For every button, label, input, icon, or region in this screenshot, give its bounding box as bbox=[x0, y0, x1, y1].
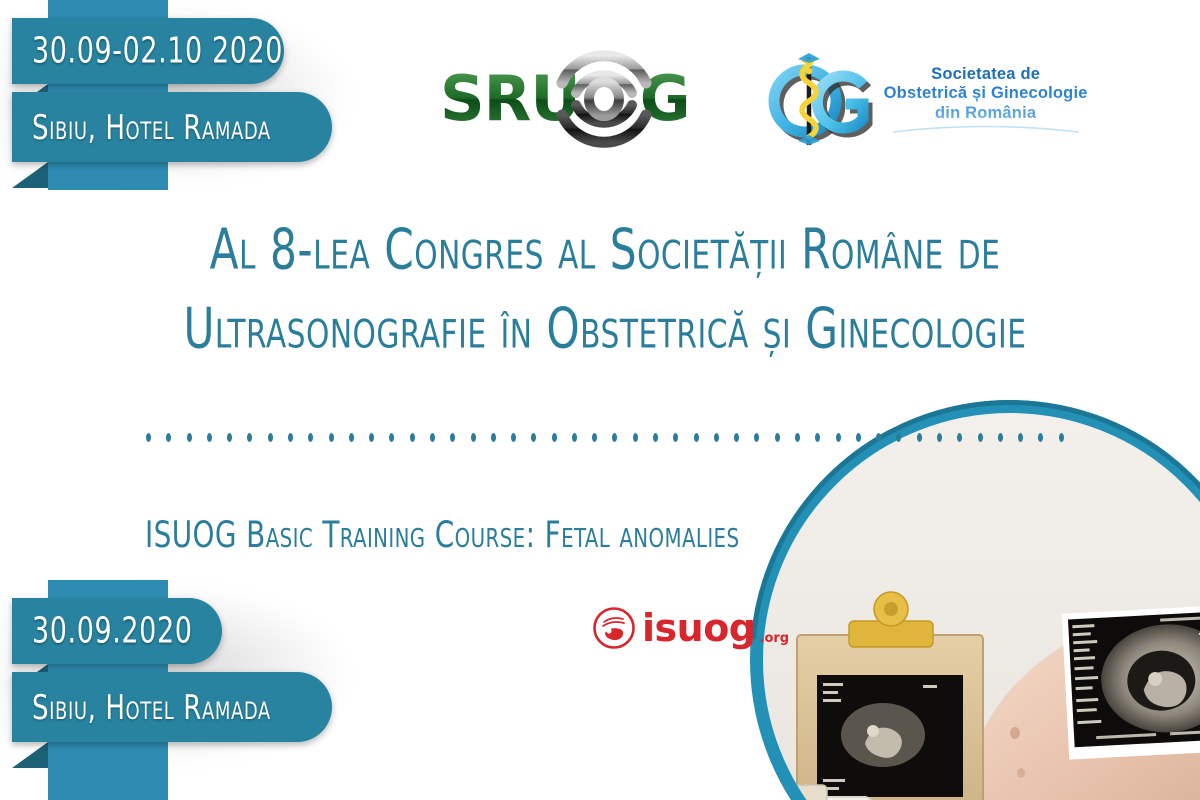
divider-dot bbox=[754, 433, 759, 442]
divider-dot bbox=[268, 433, 273, 442]
divider-dot bbox=[430, 433, 435, 442]
course-venue-text: Sibiu, Hotel Ramada bbox=[12, 687, 271, 727]
divider-dot bbox=[247, 433, 252, 442]
course-subtitle: ISUOG Basic Training Course: Fetal anoma… bbox=[145, 514, 739, 556]
divider-dot bbox=[795, 433, 800, 442]
divider-dot bbox=[673, 433, 678, 442]
divider-dot bbox=[978, 433, 983, 442]
divider-dot bbox=[876, 433, 881, 442]
course-date-ribbon: 30.09.2020 Sibiu, Hotel Ramada bbox=[0, 580, 360, 770]
event-venue-text: Sibiu, Hotel Ramada bbox=[12, 107, 271, 147]
divider-dot bbox=[917, 433, 922, 442]
sogr-monogram-icon bbox=[768, 47, 874, 151]
divider-dot bbox=[511, 433, 516, 442]
course-date-text: 30.09.2020 bbox=[12, 610, 192, 651]
sogr-text-line-1: Societatea de bbox=[884, 65, 1088, 84]
divider-dot bbox=[207, 433, 212, 442]
sogr-text-line-2: Obstetrică și Ginecologie bbox=[884, 84, 1088, 103]
divider-dot bbox=[937, 433, 942, 442]
divider-dot bbox=[734, 433, 739, 442]
divider-dot bbox=[146, 433, 151, 442]
divider-dot bbox=[836, 433, 841, 442]
divider-dot bbox=[166, 433, 171, 442]
course-venue-bar: Sibiu, Hotel Ramada bbox=[12, 672, 332, 742]
divider-dot bbox=[592, 433, 597, 442]
divider-dot bbox=[572, 433, 577, 442]
sruog-logo[interactable]: SRU G bbox=[440, 51, 690, 147]
event-date-bar: 30.09-02.10 2020 bbox=[12, 18, 284, 84]
divider-dot bbox=[450, 433, 455, 442]
divider-dot bbox=[612, 433, 617, 442]
isuog-domain-suffix: .org bbox=[760, 631, 790, 650]
course-date-bar: 30.09.2020 bbox=[12, 598, 222, 664]
page-title: Al 8-lea Congres al Societății Române de… bbox=[130, 212, 1080, 356]
logo-row: SRU G bbox=[440, 40, 1140, 158]
divider-dot bbox=[329, 433, 334, 442]
divider-dot bbox=[410, 433, 415, 442]
sogr-text-line-3: din România bbox=[884, 104, 1088, 123]
ultrasound-wave-icon bbox=[548, 43, 660, 155]
divider-dot bbox=[957, 433, 962, 442]
divider-dot bbox=[227, 433, 232, 442]
conference-banner: 30.09-02.10 2020 Sibiu, Hotel Ramada SRU… bbox=[0, 0, 1200, 800]
divider-dot bbox=[349, 433, 354, 442]
divider-dot bbox=[491, 433, 496, 442]
divider-dot bbox=[471, 433, 476, 442]
divider-dot bbox=[531, 433, 536, 442]
divider-dot bbox=[633, 433, 638, 442]
event-dates-ribbon: 30.09-02.10 2020 Sibiu, Hotel Ramada bbox=[0, 0, 360, 190]
isuog-wordmark: isuog bbox=[642, 609, 756, 647]
fetus-circle-icon bbox=[592, 606, 636, 650]
divider-dot bbox=[308, 433, 313, 442]
divider-dot bbox=[856, 433, 861, 442]
divider-dot bbox=[288, 433, 293, 442]
dotted-divider bbox=[146, 432, 1064, 442]
divider-dot bbox=[1059, 433, 1064, 442]
sogr-logo[interactable]: Societatea de Obstetrică și Ginecologie … bbox=[768, 47, 1088, 151]
divider-dot bbox=[389, 433, 394, 442]
divider-dot bbox=[552, 433, 557, 442]
page-title-line-2: Ultrasonografie în Obstetrică și Ginecol… bbox=[130, 291, 1080, 369]
divider-dot bbox=[998, 433, 1003, 442]
divider-dot bbox=[1018, 433, 1023, 442]
isuog-logo[interactable]: isuog .org bbox=[592, 606, 789, 650]
page-title-line-1: Al 8-lea Congres al Societății Române de bbox=[130, 212, 1080, 290]
event-date-text: 30.09-02.10 2020 bbox=[12, 30, 283, 71]
divider-dot bbox=[1038, 433, 1043, 442]
divider-dot bbox=[653, 433, 658, 442]
divider-dot bbox=[694, 433, 699, 442]
pregnancy-ultrasound-photo bbox=[750, 400, 1200, 800]
event-venue-bar: Sibiu, Hotel Ramada bbox=[12, 92, 332, 162]
divider-dot bbox=[369, 433, 374, 442]
photo-ring-border bbox=[750, 400, 1200, 800]
divider-dot bbox=[187, 433, 192, 442]
sogr-swoosh-icon bbox=[891, 124, 1081, 133]
divider-dot bbox=[896, 433, 901, 442]
divider-dot bbox=[815, 433, 820, 442]
divider-dot bbox=[775, 433, 780, 442]
divider-dot bbox=[714, 433, 719, 442]
